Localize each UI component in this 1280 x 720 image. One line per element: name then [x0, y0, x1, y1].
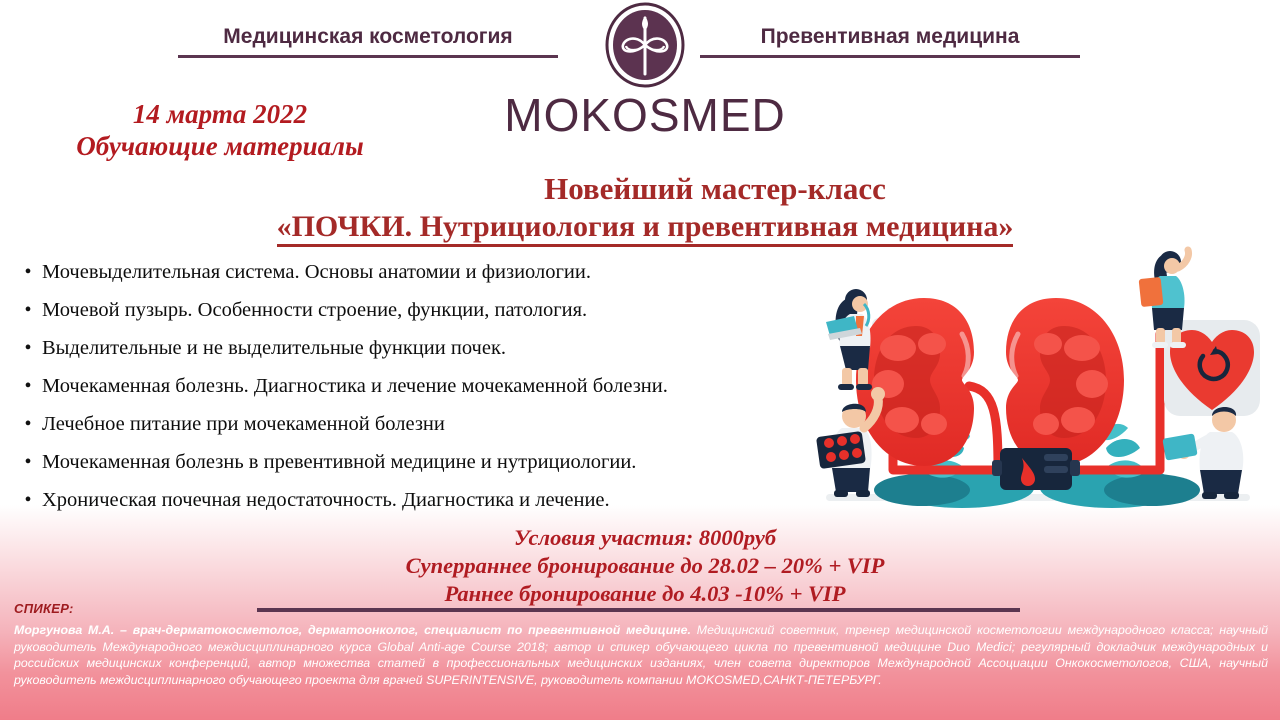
- bullet-marker-icon: •: [14, 371, 42, 401]
- speaker-label: СПИКЕР:: [14, 601, 74, 616]
- list-item: • Лечебное питание при мочекаменной боле…: [14, 409, 834, 447]
- pricing-line-3: Раннее бронирование до 4.03 -10% + VIP: [300, 580, 990, 608]
- pump-valve-icon: [992, 448, 1080, 490]
- list-item-label: Лечебное питание при мочекаменной болезн…: [42, 409, 445, 439]
- caduceus-emblem-icon: [604, 2, 686, 88]
- list-item: • Выделительные и не выделительные функц…: [14, 333, 834, 371]
- header-right-rule: [700, 55, 1080, 58]
- header-left-tagline: Медицинская косметология: [178, 25, 558, 58]
- list-item-label: Мочекаменная болезнь. Диагностика и лече…: [42, 371, 668, 401]
- person-doctor-with-laptop: [826, 289, 872, 390]
- person-with-pill-blister: [816, 387, 885, 497]
- pricing-line-2: Суперраннее бронирование до 28.02 – 20% …: [300, 552, 990, 580]
- topics-list: • Мочевыделительная система. Основы анат…: [14, 257, 834, 523]
- slide-canvas: Медицинская косметология Превентивная ме…: [0, 0, 1280, 720]
- pricing-line-1: Условия участия: 8000руб: [300, 524, 990, 552]
- list-item-label: Хроническая почечная недостаточность. Ди…: [42, 485, 610, 515]
- bullet-marker-icon: •: [14, 447, 42, 477]
- header-left-rule: [178, 55, 558, 58]
- header-left-text: Медицинская косметология: [178, 25, 558, 49]
- list-item-label: Мочевой пузырь. Особенности строение, фу…: [42, 295, 587, 325]
- list-item: • Мочекаменная болезнь. Диагностика и ле…: [14, 371, 834, 409]
- event-materials-label: Обучающие материалы: [10, 130, 430, 162]
- kidney-dialysis-illustration: [812, 238, 1264, 508]
- speaker-name-and-role: Моргунова М.А. – врач-дерматокосметолог,…: [14, 623, 691, 637]
- bullet-marker-icon: •: [14, 257, 42, 287]
- list-item: • Мочевыделительная система. Основы анат…: [14, 257, 834, 295]
- bullet-marker-icon: •: [14, 295, 42, 325]
- brand-logo: MOKOSMED: [590, 2, 700, 152]
- list-item: • Мочекаменная болезнь в превентивной ме…: [14, 447, 834, 485]
- header-right-tagline: Превентивная медицина: [700, 25, 1080, 58]
- list-item-label: Выделительные и не выделительные функции…: [42, 333, 506, 363]
- page-title: Новейший мастер-класс «ПОЧКИ. Нутрициоло…: [0, 170, 1280, 246]
- event-date-block: 14 марта 2022 Обучающие материалы: [10, 99, 430, 162]
- brand-wordmark: MOKOSMED: [495, 90, 795, 140]
- list-item: • Хроническая почечная недостаточность. …: [14, 485, 834, 523]
- list-item-label: Мочекаменная болезнь в превентивной меди…: [42, 447, 636, 477]
- kidney-right-icon: [1006, 298, 1124, 466]
- bullet-marker-icon: •: [14, 485, 42, 515]
- bullet-marker-icon: •: [14, 333, 42, 363]
- list-item: • Мочевой пузырь. Особенности строение, …: [14, 295, 834, 333]
- pricing-block: Условия участия: 8000руб Суперраннее бро…: [300, 524, 990, 608]
- header-right-text: Превентивная медицина: [700, 25, 1080, 49]
- list-item-label: Мочевыделительная система. Основы анатом…: [42, 257, 591, 287]
- speaker-bio: Моргунова М.А. – врач-дерматокосметолог,…: [14, 622, 1268, 688]
- speaker-divider: [257, 608, 1020, 612]
- title-line-1: Новейший мастер-класс: [0, 170, 1280, 208]
- bullet-marker-icon: •: [14, 409, 42, 439]
- event-date: 14 марта 2022: [10, 99, 430, 130]
